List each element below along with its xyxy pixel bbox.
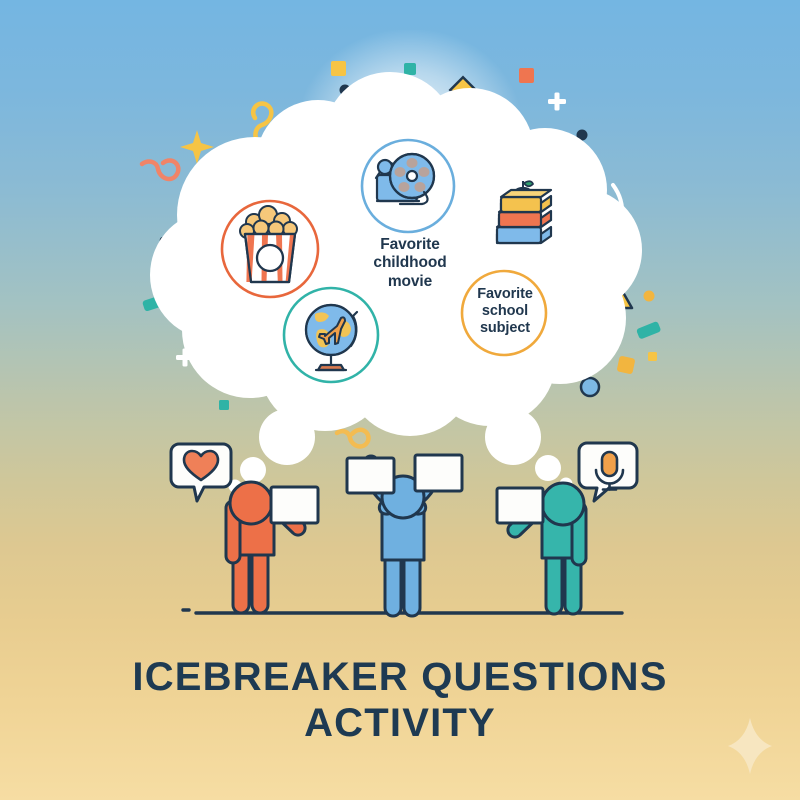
page-title: ICEBREAKER QUESTIONS ACTIVITY: [60, 655, 740, 746]
title-line-2: ACTIVITY: [60, 701, 740, 747]
title-line-1: ICEBREAKER QUESTIONS: [132, 655, 667, 699]
poster-canvas: Favorite childhood movie Favorite school…: [0, 0, 800, 800]
